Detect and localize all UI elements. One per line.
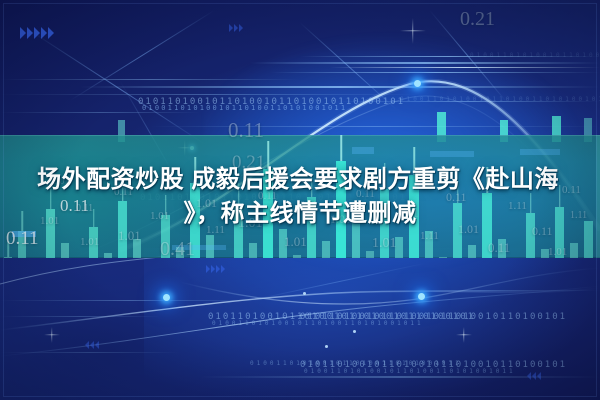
banner-image: 010110100101101001011010010110100101 010… — [0, 0, 600, 400]
image-border — [3, 3, 597, 397]
